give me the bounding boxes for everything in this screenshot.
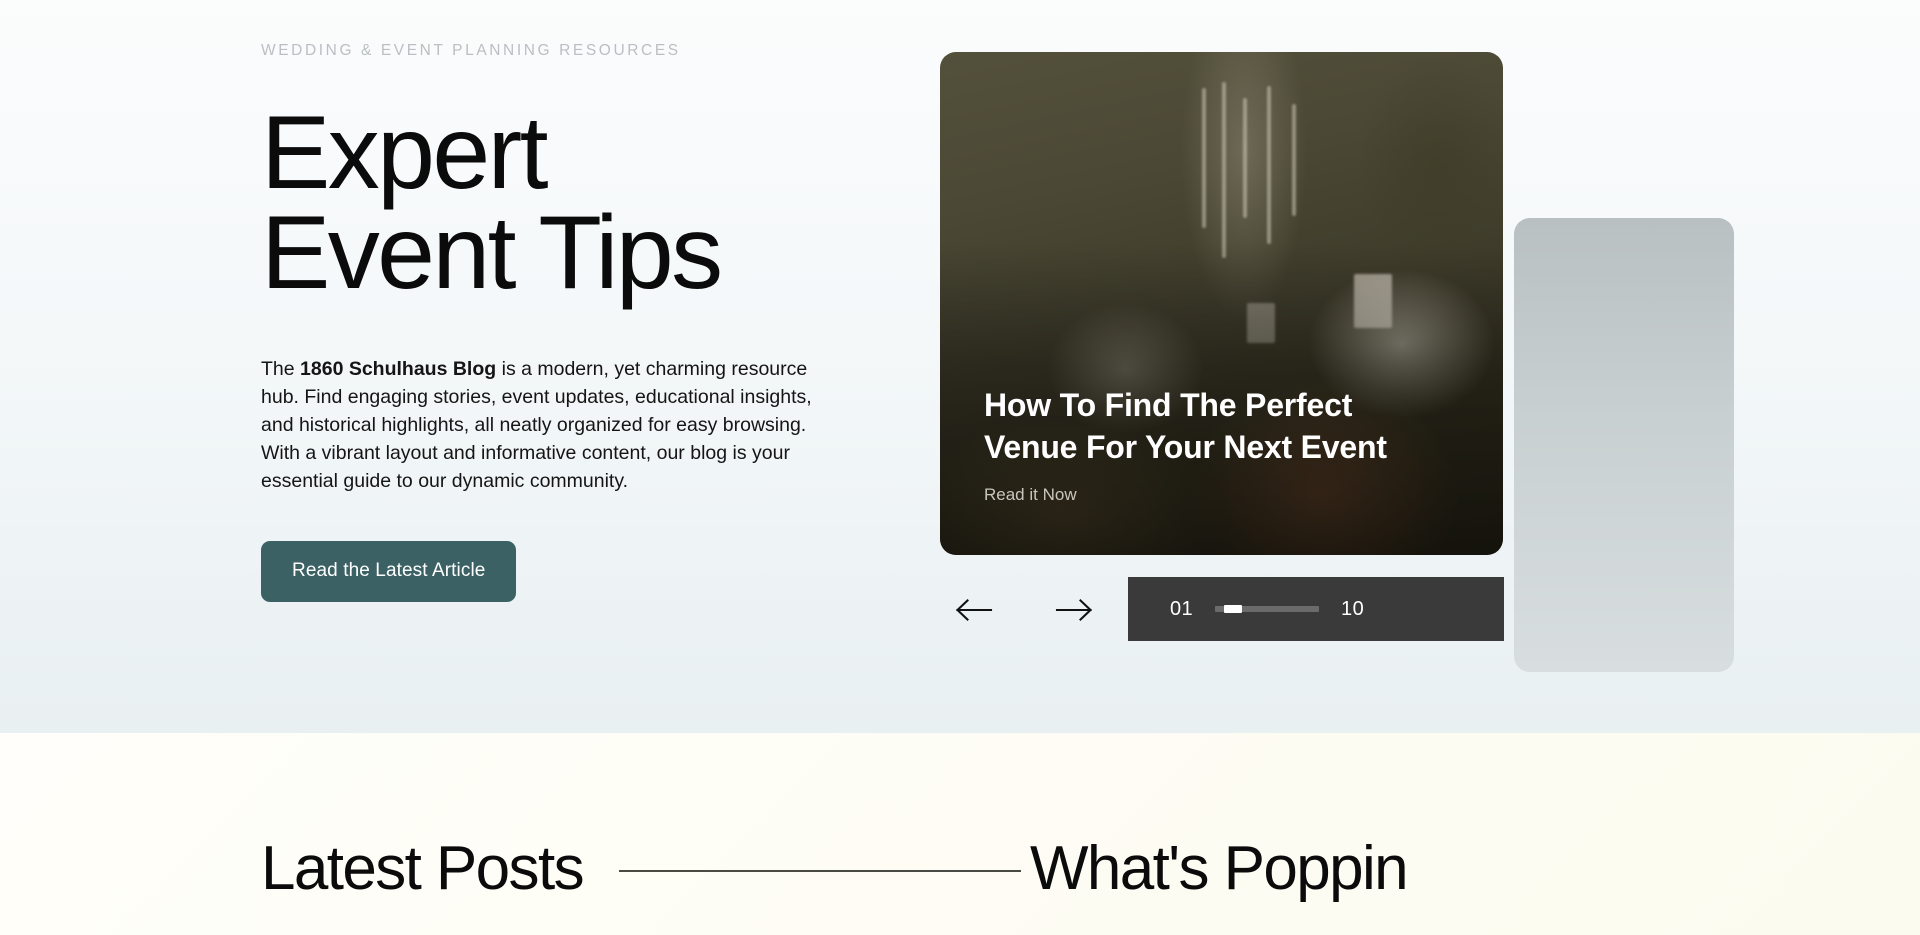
current-slide-number: 01 [1170, 598, 1193, 621]
whats-poppin-title: What's Poppin [1030, 838, 1407, 900]
headline-line-2: Event Tips [261, 204, 861, 304]
arrow-right-icon[interactable] [1052, 595, 1094, 625]
featured-post-slider: How To Find The Perfect Venue For Your N… [940, 40, 1660, 640]
hero-eyebrow: WEDDING & EVENT PLANNING RESOURCES [261, 42, 861, 60]
slider-navigation [955, 595, 1094, 625]
latest-posts-title: Latest Posts [261, 838, 583, 900]
slide-counter-bar: 01 10 [1128, 577, 1504, 641]
hanging-greenery-decor [1243, 98, 1247, 218]
read-it-now-link[interactable]: Read it Now [984, 485, 1077, 505]
candle-decor [1354, 274, 1392, 328]
headline-line-1: Expert [261, 95, 546, 211]
read-latest-article-button[interactable]: Read the Latest Article [261, 541, 516, 602]
page-title: Expert Event Tips [261, 104, 861, 304]
slider-progress-track[interactable] [1215, 606, 1319, 612]
hero-section: WEDDING & EVENT PLANNING RESOURCES Exper… [0, 0, 1920, 733]
hanging-greenery-decor [1202, 88, 1206, 228]
next-slide-preview-card[interactable] [1514, 218, 1734, 672]
hanging-greenery-decor [1222, 82, 1226, 258]
featured-post-card[interactable]: How To Find The Perfect Venue For Your N… [940, 52, 1503, 555]
hanging-greenery-decor [1292, 104, 1296, 216]
section-divider [619, 870, 1021, 872]
arrow-left-icon[interactable] [955, 595, 997, 625]
hero-paragraph: The 1860 Schulhaus Blog is a modern, yet… [261, 355, 839, 495]
latest-posts-header: Latest Posts [261, 838, 1021, 900]
lower-section: Latest Posts What's Poppin [0, 733, 1920, 935]
paragraph-bold-brand: 1860 Schulhaus Blog [300, 358, 496, 380]
card-text-overlay: How To Find The Perfect Venue For Your N… [984, 384, 1414, 505]
card-title: How To Find The Perfect Venue For Your N… [984, 384, 1414, 468]
hero-copy-block: WEDDING & EVENT PLANNING RESOURCES Exper… [261, 42, 861, 602]
hanging-greenery-decor [1267, 86, 1271, 244]
total-slides-number: 10 [1341, 598, 1364, 621]
paragraph-prefix: The [261, 358, 300, 380]
page-root: WEDDING & EVENT PLANNING RESOURCES Exper… [0, 0, 1920, 935]
slider-progress-thumb[interactable] [1224, 605, 1242, 613]
candle-decor [1247, 303, 1275, 343]
